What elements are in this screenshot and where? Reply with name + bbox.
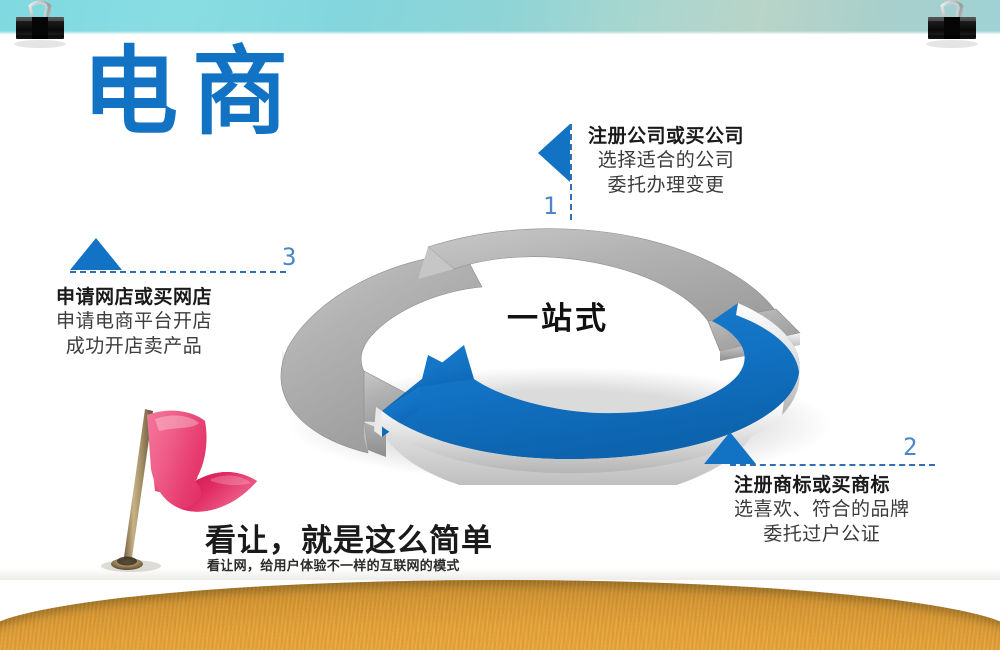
step-2-dashline	[730, 464, 935, 466]
step-2-callout: 注册商标或买商标 选喜欢、符合的品牌 委托过户公证	[734, 470, 910, 547]
step-2-line-2: 委托过户公证	[734, 522, 910, 547]
binder-clip-icon	[10, 0, 74, 56]
step-3-callout: 申请网店或买网店 申请电商平台开店 成功开店卖产品	[56, 282, 212, 359]
triangle-left-icon	[538, 124, 570, 182]
step-2-heading: 注册商标或买商标	[734, 470, 910, 497]
slogan-subtitle: 看让网，给用户体验不一样的互联网的模式	[207, 555, 460, 574]
step-2-line-1: 选喜欢、符合的品牌	[734, 497, 910, 522]
step-2-number: 2	[903, 433, 917, 461]
slogan: 看让，就是这么简单	[205, 515, 493, 560]
step-3-heading: 申请网店或买网店	[56, 282, 212, 309]
step-1-heading: 注册公司或买公司	[588, 121, 744, 148]
step-1-number: 1	[543, 192, 557, 220]
poster-canvas: 电商	[0, 0, 1000, 650]
triangle-up-icon	[704, 432, 756, 464]
cycle-diagram: 一站式	[268, 225, 848, 485]
page-title: 电商	[82, 44, 302, 140]
sky-band	[0, 0, 1000, 34]
step-3-line-2: 成功开店卖产品	[56, 334, 212, 359]
step-1-callout: 注册公司或买公司 选择适合的公司 委托办理变更	[588, 121, 744, 198]
wheat-field-band	[0, 580, 1000, 650]
step-3-dashline	[70, 271, 286, 273]
binder-clip-icon	[922, 0, 986, 56]
step-1-line-1: 选择适合的公司	[588, 148, 744, 173]
step-1-dashline	[570, 124, 572, 220]
step-3-line-1: 申请电商平台开店	[56, 309, 212, 334]
step-1-line-2: 委托办理变更	[588, 173, 744, 198]
step-3-number: 3	[282, 243, 296, 271]
triangle-up-icon	[70, 238, 122, 270]
